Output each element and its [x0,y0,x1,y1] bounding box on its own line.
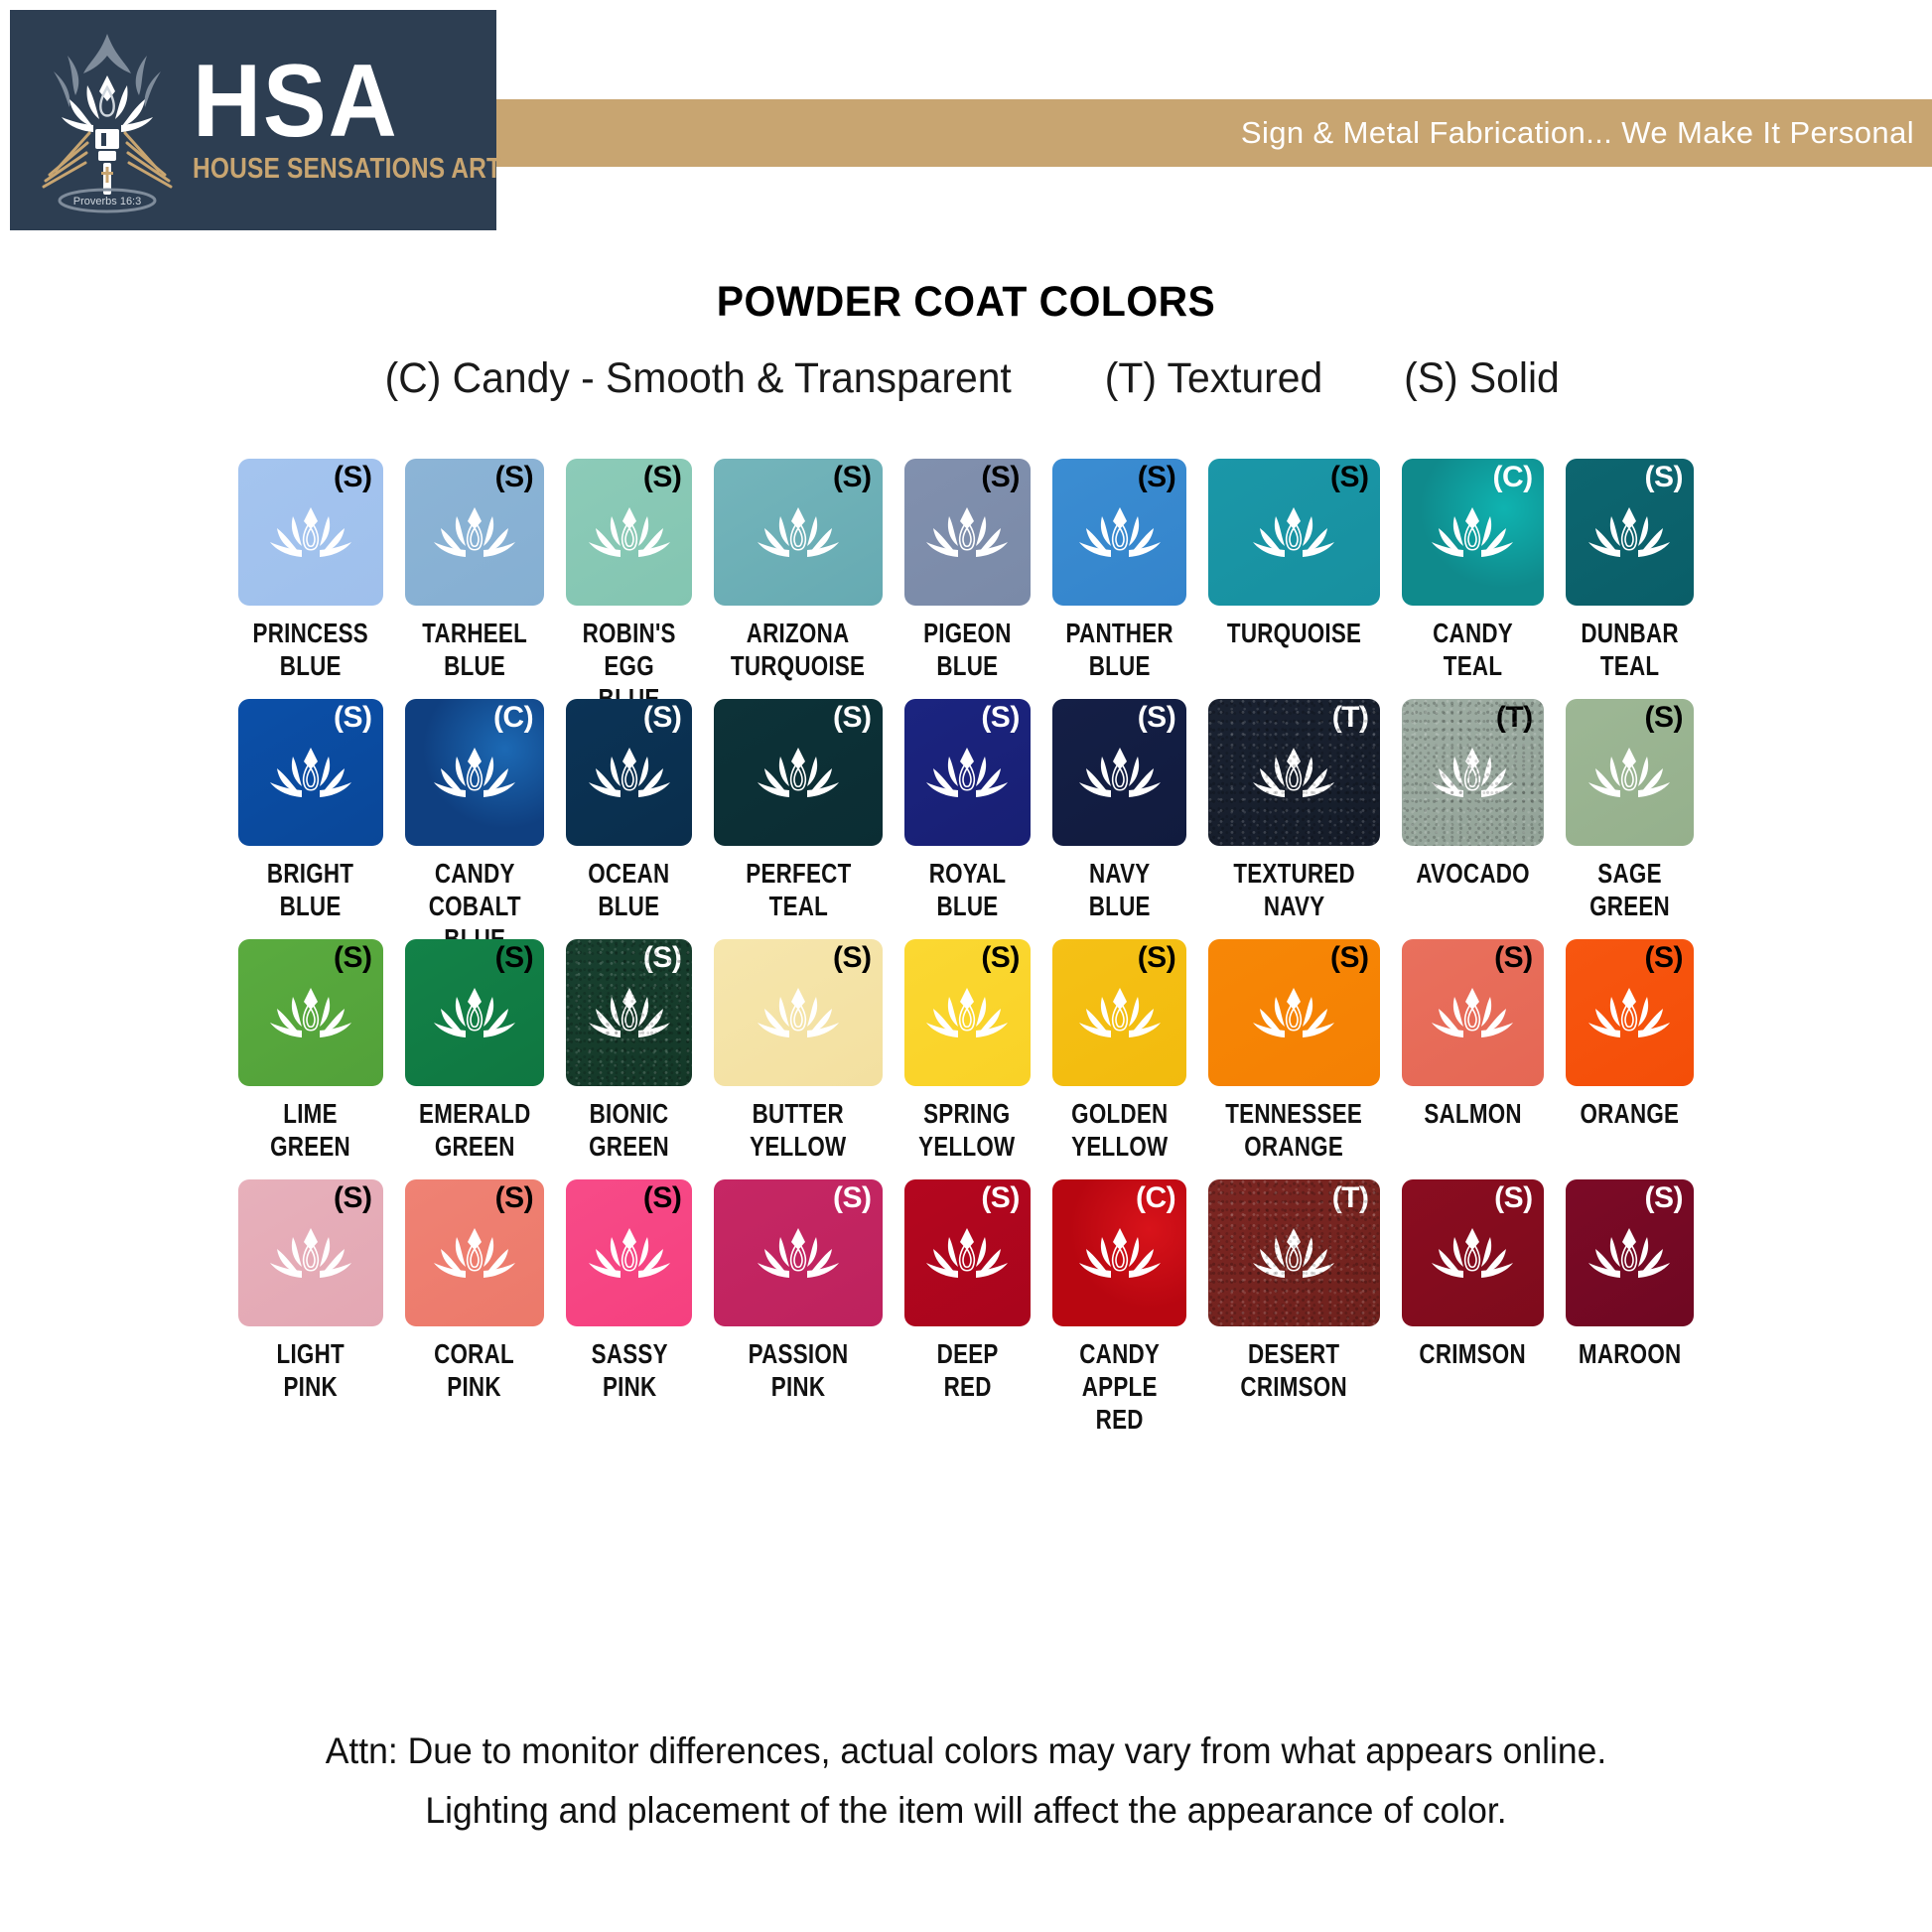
swatch-label: PIGEON BLUE [923,618,1012,689]
swatch-color-chip[interactable]: (C) [1402,459,1544,606]
finish-badge: (C) [1136,1183,1175,1213]
swatch-label: SPRING YELLOW [919,1098,1016,1170]
finish-badge: (S) [643,463,682,492]
disclaimer-line-1: Attn: Due to monitor differences, actual… [39,1722,1893,1781]
swatch-color-chip[interactable]: (S) [238,699,383,846]
swatch-color-chip[interactable]: (S) [1052,939,1186,1086]
color-swatch-spring-yellow[interactable]: (S) SPRING YELLOW [904,939,1031,1170]
swatch-label: CANDY APPLE RED [1065,1338,1173,1410]
color-swatch-candy-cobalt-blue[interactable]: (C) CANDY COBALT BLUE [405,699,545,929]
swatch-label: LIGHT PINK [277,1338,345,1410]
lotus-watermark-icon [1431,745,1514,800]
finish-badge: (S) [1330,943,1369,973]
swatch-label: GOLDEN YELLOW [1071,1098,1168,1170]
lotus-watermark-icon [1078,745,1162,800]
legend-item-candy: (C) Candy - Smooth & Transparent [384,354,1011,403]
swatch-color-chip[interactable]: (S) [904,939,1031,1086]
lotus-watermark-icon [925,745,1009,800]
swatch-label: CRIMSON [1419,1338,1525,1410]
finish-badge: (S) [981,463,1020,492]
swatch-color-chip[interactable]: (S) [714,459,882,606]
lotus-watermark-icon [1252,1225,1335,1281]
swatch-label: DESERT CRIMSON [1241,1338,1347,1410]
swatch-color-chip[interactable]: (T) [1402,699,1544,846]
finish-badge: (T) [1496,703,1533,733]
color-swatch-royal-blue[interactable]: (S) ROYAL BLUE [904,699,1031,929]
finish-badge: (S) [334,1183,372,1213]
lotus-watermark-icon [433,504,516,560]
swatch-label: OCEAN BLUE [589,858,670,929]
color-swatch-coral-pink[interactable]: (S) CORAL PINK [405,1179,545,1410]
lotus-watermark-icon [757,504,840,560]
finish-badge: (S) [495,463,534,492]
lotus-watermark-icon [1078,985,1162,1040]
color-swatch-panther-blue[interactable]: (S) PANTHER BLUE [1052,459,1186,689]
swatch-label: ROYAL BLUE [928,858,1006,929]
color-swatch-tarheel-blue[interactable]: (S) TARHEEL BLUE [405,459,545,689]
color-swatch-avocado[interactable]: (T) AVOCADO [1402,699,1544,929]
lotus-watermark-icon [1431,1225,1514,1281]
swatch-color-chip[interactable]: (S) [1052,699,1186,846]
color-swatch-bionic-green[interactable]: (S) BIONIC GREEN [566,939,692,1170]
legend-item-solid: (S) Solid [1404,354,1560,403]
swatch-label: TENNESSEE ORANGE [1225,1098,1362,1170]
swatch-label: ORANGE [1580,1098,1679,1170]
color-swatch-sage-green[interactable]: (S) SAGE GREEN [1566,699,1694,929]
color-swatch-orange[interactable]: (S) ORANGE [1566,939,1694,1170]
color-swatch-grid: (S) PRINCESS BLUE(S) TARHEEL B [238,459,1694,1420]
lotus-watermark-icon [269,504,352,560]
swatch-color-chip[interactable]: (S) [238,459,383,606]
swatch-color-chip[interactable]: (S) [714,699,882,846]
lotus-watermark-icon [1078,504,1162,560]
finish-legend: (C) Candy - Smooth & Transparent (T) Tex… [0,354,1932,403]
finish-badge: (S) [981,943,1020,973]
swatch-color-chip[interactable]: (S) [904,1179,1031,1326]
finish-badge: (S) [833,1183,872,1213]
lotus-watermark-icon [588,1225,671,1281]
finish-badge: (S) [981,1183,1020,1213]
swatch-color-chip[interactable]: (S) [1566,459,1694,606]
swatch-color-chip[interactable]: (C) [1052,1179,1186,1326]
lotus-watermark-icon [925,504,1009,560]
color-swatch-perfect-teal[interactable]: (S) PERFECT TEAL [714,699,882,929]
lotus-watermark-icon [1587,745,1671,800]
swatch-label: ARIZONA TURQUOISE [731,618,865,689]
swatch-color-chip[interactable]: (S) [566,939,692,1086]
swatch-label: PANTHER BLUE [1065,618,1173,689]
lotus-watermark-icon [433,745,516,800]
lotus-watermark-icon [433,985,516,1040]
swatch-label: CANDY COBALT BLUE [419,858,530,929]
brand-name: HOUSE SENSATIONS ART [193,153,501,186]
finish-badge: (S) [1645,463,1684,492]
lotus-watermark-icon [588,504,671,560]
color-swatch-textured-navy[interactable]: (T) TEXTURED NAVY [1208,699,1379,929]
finish-badge: (S) [981,703,1020,733]
finish-badge: (T) [1332,1183,1369,1213]
finish-badge: (S) [643,703,682,733]
swatch-label: PRINCESS BLUE [253,618,368,689]
brand-abbreviation: HSA [193,55,523,150]
swatch-label: AVOCADO [1416,858,1530,929]
swatch-color-chip[interactable]: (S) [1566,939,1694,1086]
swatch-label: DEEP RED [916,1338,1018,1410]
finish-badge: (C) [493,703,533,733]
lotus-watermark-icon [269,1225,352,1281]
swatch-label: SAGE GREEN [1589,858,1670,929]
swatch-label: SASSY PINK [591,1338,667,1410]
color-swatch-maroon[interactable]: (S) MAROON [1566,1179,1694,1410]
swatch-color-chip[interactable]: (S) [904,699,1031,846]
finish-badge: (S) [1645,703,1684,733]
color-swatch-butter-yellow[interactable]: (S) BUTTER YELLOW [714,939,882,1170]
lotus-watermark-icon [1587,985,1671,1040]
lotus-watermark-icon [1252,745,1335,800]
swatch-color-chip[interactable]: (S) [405,1179,545,1326]
lotus-watermark-icon [1431,504,1514,560]
tagline-band: Sign & Metal Fabrication... We Make It P… [496,99,1932,167]
swatch-label: LIME GREEN [270,1098,350,1170]
color-swatch-deep-red[interactable]: (S) DEEP RED [904,1179,1031,1410]
page-header: Sign & Metal Fabrication... We Make It P… [0,0,1932,230]
lotus-watermark-icon [269,985,352,1040]
lotus-watermark-icon [925,985,1009,1040]
swatch-color-chip[interactable]: (S) [238,939,383,1086]
finish-badge: (S) [495,1183,534,1213]
swatch-color-chip[interactable]: (S) [1052,459,1186,606]
swatch-color-chip[interactable]: (S) [1402,939,1544,1086]
swatch-label: BUTTER YELLOW [750,1098,846,1170]
finish-badge: (S) [334,463,372,492]
color-swatch-sassy-pink[interactable]: (S) SASSY PINK [566,1179,692,1410]
swatch-label: CANDY TEAL [1433,618,1513,689]
lotus-watermark-icon [925,1225,1009,1281]
finish-badge: (C) [1492,463,1532,492]
color-swatch-princess-blue[interactable]: (S) PRINCESS BLUE [238,459,383,689]
swatch-label: TARHEEL BLUE [422,618,527,689]
color-swatch-bright-blue[interactable]: (S) BRIGHT BLUE [238,699,383,929]
lotus-watermark-icon [433,1225,516,1281]
swatch-color-chip[interactable]: (S) [566,699,692,846]
swatch-label: DUNBAR TEAL [1581,618,1679,689]
finish-badge: (S) [833,943,872,973]
swatch-label: SALMON [1424,1098,1522,1170]
swatch-color-chip[interactable]: (S) [566,459,692,606]
color-swatch-turquoise[interactable]: (S) TURQUOISE [1208,459,1379,689]
color-swatch-desert-crimson[interactable]: (T) DESERT CRIMSON [1208,1179,1379,1410]
finish-badge: (S) [1330,463,1369,492]
svg-text:Proverbs 16:3: Proverbs 16:3 [73,196,141,207]
finish-badge: (S) [334,703,372,733]
swatch-color-chip[interactable]: (S) [1566,699,1694,846]
swatch-color-chip[interactable]: (S) [904,459,1031,606]
lotus-watermark-icon [757,745,840,800]
lotus-watermark-icon [1431,985,1514,1040]
swatch-color-chip[interactable]: (S) [405,939,545,1086]
finish-badge: (S) [495,943,534,973]
finish-badge: (S) [1138,943,1176,973]
color-swatch-passion-pink[interactable]: (S) PASSION PINK [714,1179,882,1410]
page-title: POWDER COAT COLORS [49,278,1884,327]
swatch-label: CORAL PINK [434,1338,514,1410]
swatch-label: TURQUOISE [1227,618,1361,689]
torch-lotus-emblem-icon: Proverbs 16:3 [32,26,183,214]
swatch-label: TEXTURED NAVY [1233,858,1355,929]
color-swatch-robin-s-egg-blue[interactable]: (S) ROBIN'S EGG BLUE [566,459,692,689]
brand-logo-block: Proverbs 16:3 HSA HOUSE SENSATIONS ART [10,10,496,230]
swatch-label: BRIGHT BLUE [267,858,353,929]
swatch-label: PASSION PINK [749,1338,849,1410]
swatch-color-chip[interactable]: (S) [714,939,882,1086]
swatch-color-chip[interactable]: (S) [405,459,545,606]
swatch-label: ROBIN'S EGG BLUE [579,618,680,689]
lotus-watermark-icon [757,1225,840,1281]
lotus-watermark-icon [269,745,352,800]
color-swatch-candy-apple-red[interactable]: (C) CANDY APPLE RED [1052,1179,1186,1410]
color-swatch-pigeon-blue[interactable]: (S) PIGEON BLUE [904,459,1031,689]
swatch-label: NAVY BLUE [1089,858,1151,929]
swatch-color-chip[interactable]: (S) [1208,459,1379,606]
lotus-watermark-icon [1587,504,1671,560]
lotus-watermark-icon [588,745,671,800]
color-swatch-lime-green[interactable]: (S) LIME GREEN [238,939,383,1170]
color-swatch-crimson[interactable]: (S) CRIMSON [1402,1179,1544,1410]
finish-badge: (S) [833,463,872,492]
lotus-watermark-icon [757,985,840,1040]
swatch-color-chip[interactable]: (S) [566,1179,692,1326]
color-swatch-tennessee-orange[interactable]: (S) TENNESSEE ORANGE [1208,939,1379,1170]
swatch-color-chip[interactable]: (S) [1208,939,1379,1086]
swatch-color-chip[interactable]: (C) [405,699,545,846]
finish-badge: (S) [1138,703,1176,733]
lotus-watermark-icon [1078,1225,1162,1281]
lotus-watermark-icon [1252,504,1335,560]
color-swatch-dunbar-teal[interactable]: (S) DUNBAR TEAL [1566,459,1694,689]
color-swatch-light-pink[interactable]: (S) LIGHT PINK [238,1179,383,1410]
swatch-label: EMERALD GREEN [419,1098,530,1170]
legend-item-textured: (T) Textured [1105,354,1322,403]
color-swatch-ocean-blue[interactable]: (S) OCEAN BLUE [566,699,692,929]
lotus-watermark-icon [1587,1225,1671,1281]
disclaimer-note: Attn: Due to monitor differences, actual… [0,1722,1932,1841]
color-swatch-candy-teal[interactable]: (C) CANDY TEAL [1402,459,1544,689]
swatch-color-chip[interactable]: (S) [238,1179,383,1326]
swatch-color-chip[interactable]: (S) [714,1179,882,1326]
finish-badge: (S) [1138,463,1176,492]
swatch-color-chip[interactable]: (T) [1208,1179,1379,1326]
swatch-color-chip[interactable]: (T) [1208,699,1379,846]
color-swatch-golden-yellow[interactable]: (S) GOLDEN YELLOW [1052,939,1186,1170]
color-swatch-salmon[interactable]: (S) SALMON [1402,939,1544,1170]
finish-badge: (T) [1332,703,1369,733]
swatch-color-chip[interactable]: (S) [1566,1179,1694,1326]
color-swatch-emerald-green[interactable]: (S) EMERALD GREEN [405,939,545,1170]
finish-badge: (S) [1494,1183,1533,1213]
swatch-label: BIONIC GREEN [589,1098,669,1170]
finish-badge: (S) [1645,943,1684,973]
finish-badge: (S) [1494,943,1533,973]
finish-badge: (S) [643,943,682,973]
finish-badge: (S) [833,703,872,733]
finish-badge: (S) [643,1183,682,1213]
tagline-text: Sign & Metal Fabrication... We Make It P… [1241,115,1914,151]
color-swatch-navy-blue[interactable]: (S) NAVY BLUE [1052,699,1186,929]
lotus-watermark-icon [1252,985,1335,1040]
swatch-label: PERFECT TEAL [746,858,851,929]
swatch-color-chip[interactable]: (S) [1402,1179,1544,1326]
finish-badge: (S) [1645,1183,1684,1213]
lotus-watermark-icon [588,985,671,1040]
finish-badge: (S) [334,943,372,973]
color-swatch-arizona-turquoise[interactable]: (S) ARIZONA TURQUOISE [714,459,882,689]
swatch-label: MAROON [1579,1338,1681,1410]
disclaimer-line-2: Lighting and placement of the item will … [39,1781,1893,1841]
